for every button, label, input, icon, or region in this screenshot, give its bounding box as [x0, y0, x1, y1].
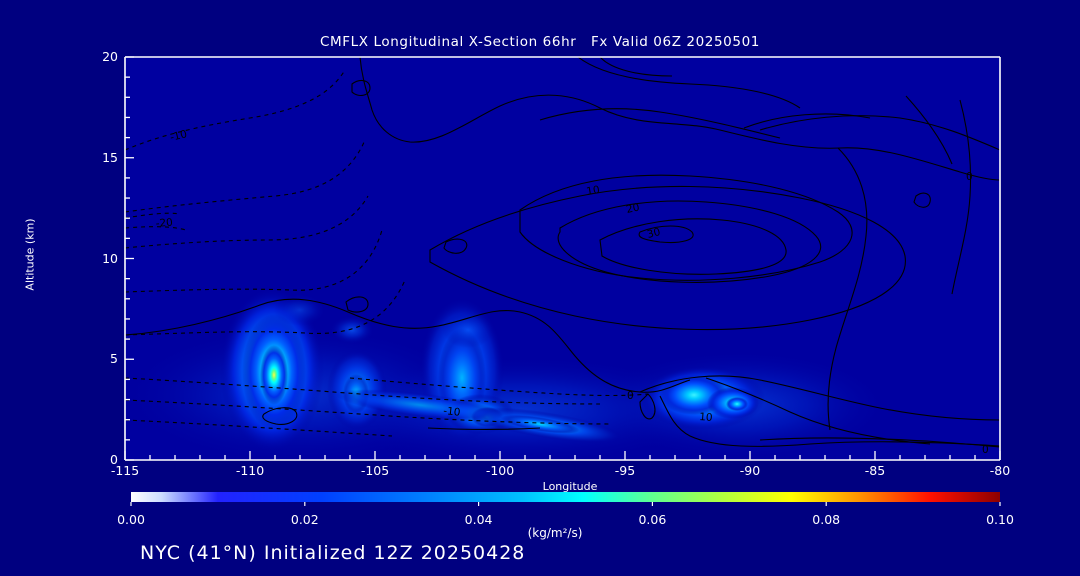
colorbar-units-label: (kg/m²/s)	[455, 526, 655, 540]
x-tick-label: -80	[965, 463, 1035, 478]
contour-label-0-right: 0	[966, 171, 973, 183]
plume-upper-blob-b	[274, 294, 326, 326]
plume-east-peak	[726, 397, 748, 411]
contour-label-10-jet: 10	[585, 184, 600, 198]
y-tick-label: 5	[78, 351, 118, 366]
colorbar-gradient	[131, 492, 1000, 502]
x-tick-label: -85	[840, 463, 910, 478]
y-tick-label: 20	[78, 49, 118, 64]
x-axis-label: Longitude	[470, 480, 670, 493]
x-tick-label: -90	[715, 463, 785, 478]
colorbar-tick-label: 0.00	[91, 512, 171, 527]
y-axis-label: Altitude (km)	[24, 195, 37, 315]
x-tick-label: -95	[590, 463, 660, 478]
plume-west-peak	[260, 345, 288, 405]
y-tick-label: 15	[78, 150, 118, 165]
colorbar-tick-label: 0.10	[960, 512, 1040, 527]
x-tick-label: -110	[215, 463, 285, 478]
contour-label-0-mid: 0	[627, 390, 634, 402]
plume-upper-blob-a	[330, 316, 374, 344]
contour-label-10-lower: 10	[699, 411, 713, 424]
plot-panel: -10 -20 10 20 30 -10 10 0 0 0	[120, 57, 1000, 465]
plume-upper-blob-c	[442, 312, 494, 348]
y-tick-label: 10	[78, 251, 118, 266]
figure-caption: NYC (41°N) Initialized 12Z 20250428	[140, 542, 525, 564]
contour-label-0-lowright: 0	[982, 444, 989, 456]
y-tick-label: 0	[78, 452, 118, 467]
colorbar-tick-label: 0.04	[439, 512, 519, 527]
colorbar-tick-label: 0.02	[265, 512, 345, 527]
colorbar-tick-label: 0.06	[612, 512, 692, 527]
x-tick-label: -105	[340, 463, 410, 478]
contour-label--20-upper: -20	[155, 217, 173, 230]
x-tick-label: -100	[465, 463, 535, 478]
colorbar-tick-label: 0.08	[786, 512, 866, 527]
chart-title: CMFLX Longitudinal X-Section 66hr Fx Val…	[0, 34, 1080, 50]
contour-label--10-lower: -10	[443, 405, 461, 419]
